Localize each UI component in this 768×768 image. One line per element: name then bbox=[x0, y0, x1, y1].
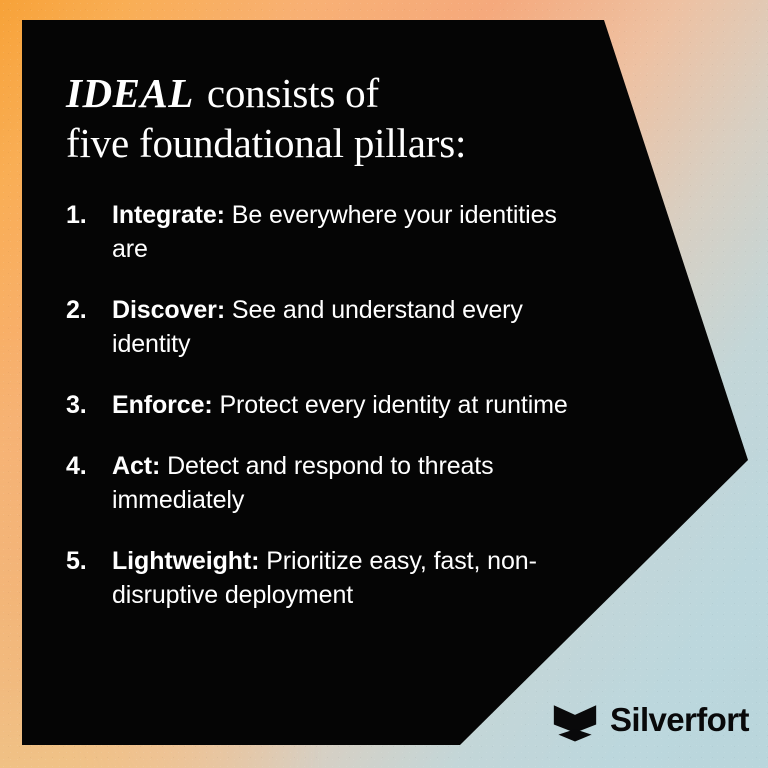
list-item-body: Integrate: Be everywhere your identities… bbox=[112, 198, 586, 266]
list-item-description: Detect and respond to threats immediatel… bbox=[112, 452, 494, 514]
silverfort-wordmark: Silverfort bbox=[610, 703, 749, 736]
list-item-body: Lightweight: Prioritize easy, fast, non-… bbox=[112, 544, 586, 612]
list-item-term: Enforce: bbox=[112, 391, 213, 419]
list-item-term: Discover: bbox=[112, 296, 225, 324]
list-item-body: Discover: See and understand every ident… bbox=[112, 293, 586, 361]
pillars-list: 1. Integrate: Be everywhere your identit… bbox=[66, 198, 586, 612]
page-title-line-1: IDEAL consists of bbox=[66, 68, 626, 118]
list-item: 3. Enforce: Protect every identity at ru… bbox=[66, 388, 586, 422]
list-item-number: 1. bbox=[66, 198, 112, 232]
silverfort-chevron-mark-icon bbox=[552, 696, 598, 742]
list-item-number: 4. bbox=[66, 449, 112, 483]
page-title-line-2: five foundational pillars: bbox=[66, 118, 626, 168]
list-item-number: 5. bbox=[66, 544, 112, 578]
list-item-description: Protect every identity at runtime bbox=[219, 391, 567, 419]
page-title-emphasis: IDEAL bbox=[66, 70, 197, 116]
silverfort-logo: Silverfort bbox=[552, 696, 749, 742]
list-item: 2. Discover: See and understand every id… bbox=[66, 293, 586, 361]
list-item-term: Act: bbox=[112, 452, 160, 480]
list-item-term: Integrate: bbox=[112, 201, 225, 229]
list-item-term: Lightweight: bbox=[112, 547, 259, 575]
list-item-number: 2. bbox=[66, 293, 112, 327]
page-title-line-1-rest: consists of bbox=[197, 70, 379, 116]
list-item-body: Enforce: Protect every identity at runti… bbox=[112, 388, 586, 422]
list-item-body: Act: Detect and respond to threats immed… bbox=[112, 449, 586, 517]
list-item: 5. Lightweight: Prioritize easy, fast, n… bbox=[66, 544, 586, 612]
list-item: 1. Integrate: Be everywhere your identit… bbox=[66, 198, 586, 266]
list-item-number: 3. bbox=[66, 388, 112, 422]
list-item: 4. Act: Detect and respond to threats im… bbox=[66, 449, 586, 517]
slide-canvas: IDEAL consists of five foundational pill… bbox=[0, 0, 768, 768]
page-title: IDEAL consists of five foundational pill… bbox=[66, 68, 626, 168]
